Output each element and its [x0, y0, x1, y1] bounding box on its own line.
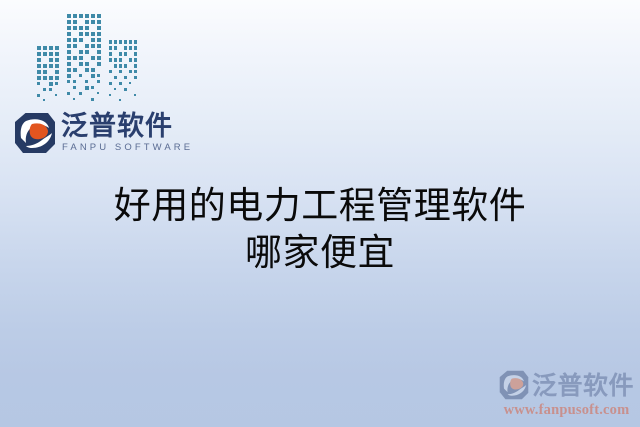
brand-name-en: FANPU SOFTWARE	[61, 143, 193, 153]
fanpu-logo-mark-icon	[14, 111, 56, 155]
brand-wordmark: 泛普软件 FANPU SOFTWARE	[61, 113, 193, 153]
page-title-line-2: 哪家便宜	[0, 229, 640, 276]
page-title: 好用的电力工程管理软件 哪家便宜	[0, 182, 640, 276]
brand-logo: 泛普软件 FANPU SOFTWARE	[14, 111, 193, 155]
watermark: 泛普软件 www.fanpusoft.com	[499, 369, 634, 419]
watermark-url: www.fanpusoft.com	[499, 402, 634, 419]
fanpu-watermark-logo-icon	[499, 369, 529, 401]
brand-name-cn: 泛普软件	[61, 113, 193, 141]
page-title-line-1: 好用的电力工程管理软件	[0, 182, 640, 229]
banner-canvas: 泛普软件 FANPU SOFTWARE 好用的电力工程管理软件 哪家便宜 泛普软…	[0, 0, 640, 427]
pixel-cityscape-icon	[36, 8, 138, 106]
watermark-name: 泛普软件	[532, 373, 634, 398]
watermark-row: 泛普软件	[499, 369, 634, 401]
